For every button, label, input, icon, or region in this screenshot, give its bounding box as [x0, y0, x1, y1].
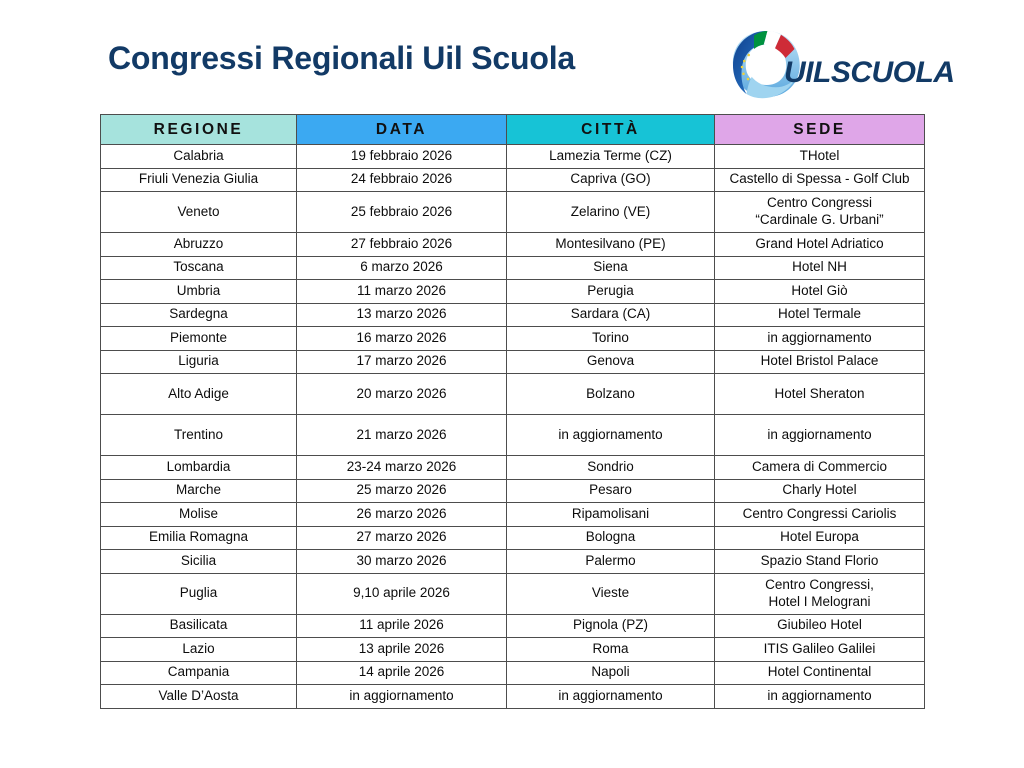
cell-sede: Hotel Giò [715, 280, 925, 304]
table-row: Trentino21 marzo 2026in aggiornamentoin … [101, 415, 925, 456]
cell-data: 13 aprile 2026 [297, 638, 507, 662]
cell-citta: Montesilvano (PE) [507, 233, 715, 257]
cell-sede: Centro Congressi,Hotel I Melograni [715, 573, 925, 614]
cell-data: 25 febbraio 2026 [297, 192, 507, 233]
cell-sede: ITIS Galileo Galilei [715, 638, 925, 662]
table-row: Basilicata11 aprile 2026Pignola (PZ)Giub… [101, 614, 925, 638]
cell-sede: Giubileo Hotel [715, 614, 925, 638]
cell-sede: Camera di Commercio [715, 456, 925, 480]
cell-data: 9,10 aprile 2026 [297, 573, 507, 614]
cell-regione: Emilia Romagna [101, 526, 297, 550]
cell-sede: in aggiornamento [715, 415, 925, 456]
cell-data: 23-24 marzo 2026 [297, 456, 507, 480]
congress-schedule-table-wrap: REGIONE DATA CITTÀ SEDE Calabria19 febbr… [100, 114, 924, 709]
cell-citta: Sardara (CA) [507, 303, 715, 327]
cell-sede: Hotel Europa [715, 526, 925, 550]
cell-sede-line2: Hotel I Melograni [719, 594, 920, 611]
cell-citta: Bolzano [507, 374, 715, 415]
table-row: Lombardia23-24 marzo 2026SondrioCamera d… [101, 456, 925, 480]
cell-data: 27 febbraio 2026 [297, 233, 507, 257]
cell-sede: Hotel Continental [715, 661, 925, 685]
cell-citta: Torino [507, 327, 715, 351]
cell-sede: Grand Hotel Adriatico [715, 233, 925, 257]
cell-citta: Palermo [507, 550, 715, 574]
cell-sede: Centro Congressi Cariolis [715, 503, 925, 527]
cell-regione: Liguria [101, 350, 297, 374]
table-row: Sardegna13 marzo 2026Sardara (CA)Hotel T… [101, 303, 925, 327]
cell-citta: Capriva (GO) [507, 168, 715, 192]
cell-regione: Molise [101, 503, 297, 527]
cell-citta: Pesaro [507, 479, 715, 503]
cell-data: 11 marzo 2026 [297, 280, 507, 304]
cell-citta: Zelarino (VE) [507, 192, 715, 233]
cell-data: 13 marzo 2026 [297, 303, 507, 327]
page-title: Congressi Regionali Uil Scuola [108, 40, 575, 77]
table-row: Molise26 marzo 2026RipamolisaniCentro Co… [101, 503, 925, 527]
cell-regione: Sicilia [101, 550, 297, 574]
cell-regione: Piemonte [101, 327, 297, 351]
table-row: Puglia9,10 aprile 2026ViesteCentro Congr… [101, 573, 925, 614]
table-row: Emilia Romagna27 marzo 2026BolognaHotel … [101, 526, 925, 550]
cell-regione: Lombardia [101, 456, 297, 480]
cell-sede: Hotel Termale [715, 303, 925, 327]
congress-schedule-table: REGIONE DATA CITTÀ SEDE Calabria19 febbr… [100, 114, 925, 709]
table-row: Lazio13 aprile 2026RomaITIS Galileo Gali… [101, 638, 925, 662]
table-row: Veneto25 febbraio 2026Zelarino (VE)Centr… [101, 192, 925, 233]
table-header-row: REGIONE DATA CITTÀ SEDE [101, 115, 925, 145]
column-header-data: DATA [297, 115, 507, 145]
cell-citta: Pignola (PZ) [507, 614, 715, 638]
cell-citta: Bologna [507, 526, 715, 550]
cell-regione: Sardegna [101, 303, 297, 327]
cell-citta: Perugia [507, 280, 715, 304]
cell-regione: Valle D’Aosta [101, 685, 297, 709]
cell-regione: Lazio [101, 638, 297, 662]
cell-regione: Toscana [101, 256, 297, 280]
cell-sede: Centro Congressi“Cardinale G. Urbani” [715, 192, 925, 233]
table-row: Calabria19 febbraio 2026Lamezia Terme (C… [101, 145, 925, 169]
cell-data: 14 aprile 2026 [297, 661, 507, 685]
slide-header: Congressi Regionali Uil Scuola [0, 0, 1024, 110]
cell-sede: Spazio Stand Florio [715, 550, 925, 574]
table-row: Marche25 marzo 2026PesaroCharly Hotel [101, 479, 925, 503]
cell-sede: Castello di Spessa - Golf Club [715, 168, 925, 192]
cell-data: 21 marzo 2026 [297, 415, 507, 456]
cell-citta: Napoli [507, 661, 715, 685]
table-row: Campania14 aprile 2026NapoliHotel Contin… [101, 661, 925, 685]
cell-data: 25 marzo 2026 [297, 479, 507, 503]
cell-regione: Campania [101, 661, 297, 685]
cell-data: in aggiornamento [297, 685, 507, 709]
cell-regione: Umbria [101, 280, 297, 304]
cell-data: 24 febbraio 2026 [297, 168, 507, 192]
table-row: Alto Adige20 marzo 2026BolzanoHotel Sher… [101, 374, 925, 415]
cell-regione: Marche [101, 479, 297, 503]
column-header-sede: SEDE [715, 115, 925, 145]
table-row: Toscana6 marzo 2026SienaHotel NH [101, 256, 925, 280]
cell-data: 6 marzo 2026 [297, 256, 507, 280]
cell-data: 11 aprile 2026 [297, 614, 507, 638]
table-row: Umbria11 marzo 2026PerugiaHotel Giò [101, 280, 925, 304]
cell-citta: Siena [507, 256, 715, 280]
cell-regione: Basilicata [101, 614, 297, 638]
cell-sede: in aggiornamento [715, 685, 925, 709]
cell-sede-line1: Centro Congressi, [719, 577, 920, 594]
table-row: Sicilia30 marzo 2026PalermoSpazio Stand … [101, 550, 925, 574]
cell-regione: Trentino [101, 415, 297, 456]
cell-citta: Genova [507, 350, 715, 374]
cell-citta: Ripamolisani [507, 503, 715, 527]
cell-regione: Calabria [101, 145, 297, 169]
uilscuola-logo: UILSCUOLA [728, 26, 928, 102]
column-header-citta: CITTÀ [507, 115, 715, 145]
cell-data: 16 marzo 2026 [297, 327, 507, 351]
cell-regione: Veneto [101, 192, 297, 233]
cell-citta: Sondrio [507, 456, 715, 480]
cell-data: 26 marzo 2026 [297, 503, 507, 527]
cell-regione: Puglia [101, 573, 297, 614]
table-row: Liguria17 marzo 2026GenovaHotel Bristol … [101, 350, 925, 374]
cell-data: 20 marzo 2026 [297, 374, 507, 415]
cell-citta: in aggiornamento [507, 415, 715, 456]
cell-data: 27 marzo 2026 [297, 526, 507, 550]
logo-wordmark: UILSCUOLA [784, 56, 955, 90]
cell-citta: Vieste [507, 573, 715, 614]
cell-data: 17 marzo 2026 [297, 350, 507, 374]
cell-citta: in aggiornamento [507, 685, 715, 709]
cell-sede-line1: Centro Congressi [719, 195, 920, 212]
cell-regione: Friuli Venezia Giulia [101, 168, 297, 192]
table-row: Valle D’Aostain aggiornamentoin aggiorna… [101, 685, 925, 709]
cell-sede: in aggiornamento [715, 327, 925, 351]
column-header-regione: REGIONE [101, 115, 297, 145]
cell-citta: Roma [507, 638, 715, 662]
table-body: Calabria19 febbraio 2026Lamezia Terme (C… [101, 145, 925, 709]
cell-regione: Alto Adige [101, 374, 297, 415]
cell-sede: Hotel NH [715, 256, 925, 280]
slide-root: Congressi Regionali Uil Scuola [0, 0, 1024, 768]
cell-data: 30 marzo 2026 [297, 550, 507, 574]
cell-citta: Lamezia Terme (CZ) [507, 145, 715, 169]
cell-sede: THotel [715, 145, 925, 169]
cell-data: 19 febbraio 2026 [297, 145, 507, 169]
cell-sede-line2: “Cardinale G. Urbani” [719, 212, 920, 229]
cell-sede: Hotel Bristol Palace [715, 350, 925, 374]
cell-sede: Charly Hotel [715, 479, 925, 503]
table-row: Friuli Venezia Giulia24 febbraio 2026Cap… [101, 168, 925, 192]
table-row: Abruzzo27 febbraio 2026Montesilvano (PE)… [101, 233, 925, 257]
table-header: REGIONE DATA CITTÀ SEDE [101, 115, 925, 145]
cell-regione: Abruzzo [101, 233, 297, 257]
table-row: Piemonte16 marzo 2026Torinoin aggiorname… [101, 327, 925, 351]
cell-sede: Hotel Sheraton [715, 374, 925, 415]
